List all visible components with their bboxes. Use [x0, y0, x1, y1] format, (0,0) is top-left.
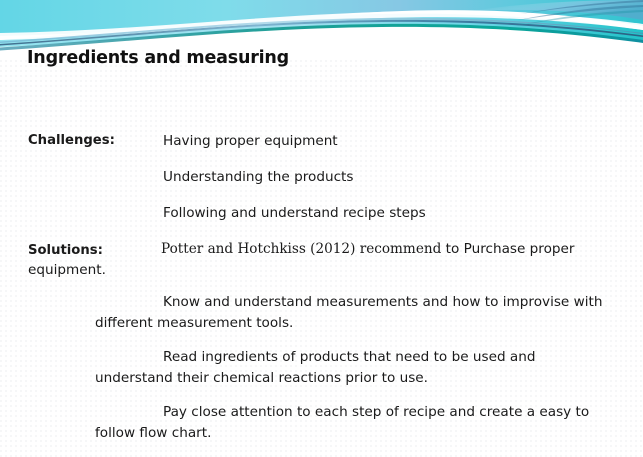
solution-citation: Potter and Hotchkiss (2012) recommend — [161, 241, 441, 257]
challenges-label: Challenges: — [28, 131, 115, 151]
slide-content: Ingredients and measuring Challenges: Ha… — [0, 0, 643, 457]
solution-item: Pay close attention to each step of reci… — [95, 402, 615, 443]
challenge-item: Having proper equipment — [163, 131, 338, 152]
solution-item: Know and understand measurements and how… — [95, 292, 615, 333]
challenge-item: Understanding the products — [163, 167, 353, 188]
solution-item: Read ingredients of products that need t… — [95, 347, 615, 388]
page-title: Ingredients and measuring — [27, 48, 289, 68]
challenge-item: Following and understand recipe steps — [163, 203, 426, 224]
presentation-slide: Ingredients and measuring Challenges: Ha… — [0, 0, 643, 457]
solution-item: Potter and Hotchkiss (2012) recommend to… — [28, 239, 633, 280]
